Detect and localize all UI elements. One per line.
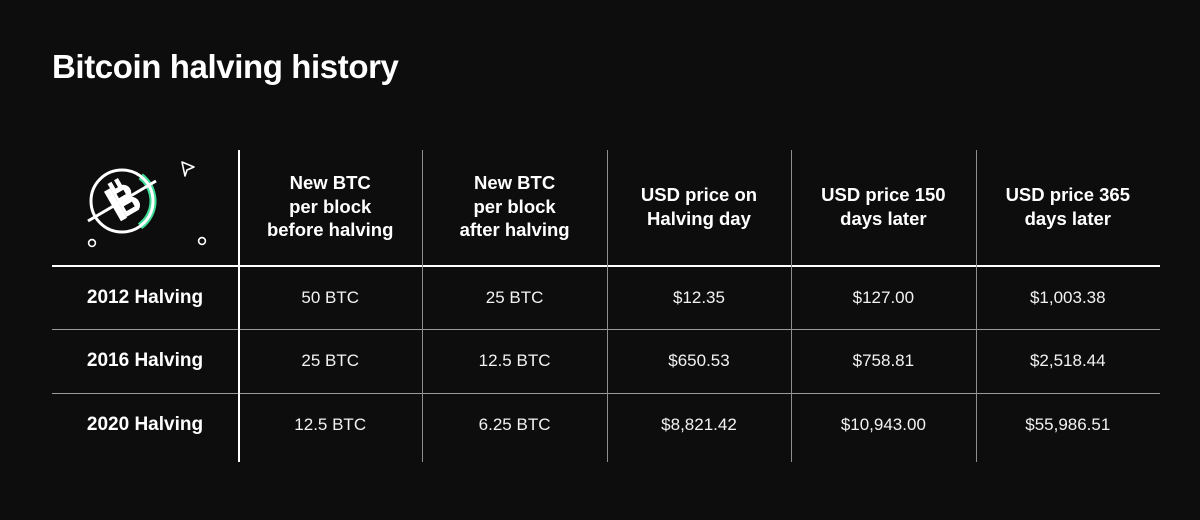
cell-2012-day0: $12.35 (607, 266, 791, 330)
header-cell-logo (52, 148, 238, 266)
header-cell-before-halving: New BTC per block before halving (238, 148, 422, 266)
table-row: 2012 Halving 50 BTC 25 BTC $12.35 $127.0… (52, 266, 1160, 330)
header-line-2: per block (289, 196, 371, 217)
header-line-2: days later (1025, 208, 1111, 229)
column-divider-3 (607, 150, 608, 462)
header-row: New BTC per block before halving New BTC… (52, 148, 1160, 266)
table-header: New BTC per block before halving New BTC… (52, 148, 1160, 266)
header-line-1: New BTC (290, 172, 371, 193)
table-row: 2016 Halving 25 BTC 12.5 BTC $650.53 $75… (52, 330, 1160, 394)
column-divider-4 (791, 150, 792, 462)
column-divider-5 (976, 150, 977, 462)
column-divider-1 (238, 150, 240, 462)
cell-2012-day365: $1,003.38 (976, 266, 1160, 330)
cell-2012-day150: $127.00 (791, 266, 975, 330)
cell-2016-after: 12.5 BTC (422, 330, 606, 394)
header-line-2: days later (840, 208, 926, 229)
column-divider-2 (422, 150, 423, 462)
cell-2012-after: 25 BTC (422, 266, 606, 330)
page-title: Bitcoin halving history (52, 48, 399, 86)
header-cell-after-halving: New BTC per block after halving (422, 148, 606, 266)
cell-2012-before: 50 BTC (238, 266, 422, 330)
row-label-2016: 2016 Halving (52, 330, 238, 394)
cell-2020-day150: $10,943.00 (791, 393, 975, 457)
row-label-2020: 2020 Halving (52, 393, 238, 457)
cell-2020-after: 6.25 BTC (422, 393, 606, 457)
header-line-3: before halving (267, 219, 393, 240)
cell-2020-day365: $55,986.51 (976, 393, 1160, 457)
row-label-2012: 2012 Halving (52, 266, 238, 330)
header-line-1: USD price on (641, 184, 757, 205)
table-body: 2012 Halving 50 BTC 25 BTC $12.35 $127.0… (52, 266, 1160, 457)
header-line-1: USD price 150 (821, 184, 945, 205)
bitcoin-halving-table: New BTC per block before halving New BTC… (52, 148, 1160, 457)
header-cell-price-halving-day: USD price on Halving day (607, 148, 791, 266)
header-line-1: USD price 365 (1006, 184, 1130, 205)
table-row: 2020 Halving 12.5 BTC 6.25 BTC $8,821.42… (52, 393, 1160, 457)
cell-2020-before: 12.5 BTC (238, 393, 422, 457)
header-line-2: per block (473, 196, 555, 217)
cell-2016-day0: $650.53 (607, 330, 791, 394)
cell-2016-before: 25 BTC (238, 330, 422, 394)
header-cell-price-150-days: USD price 150 days later (791, 148, 975, 266)
bitcoin-halving-logo-icon (70, 153, 220, 261)
cell-2016-day150: $758.81 (791, 330, 975, 394)
cell-2016-day365: $2,518.44 (976, 330, 1160, 394)
header-line-2: Halving day (647, 208, 751, 229)
header-cell-price-365-days: USD price 365 days later (976, 148, 1160, 266)
cell-2020-day0: $8,821.42 (607, 393, 791, 457)
halving-table-container: New BTC per block before halving New BTC… (52, 148, 1160, 464)
header-line-1: New BTC (474, 172, 555, 193)
header-line-3: after halving (460, 219, 570, 240)
page-root: Bitcoin halving history (0, 0, 1200, 520)
